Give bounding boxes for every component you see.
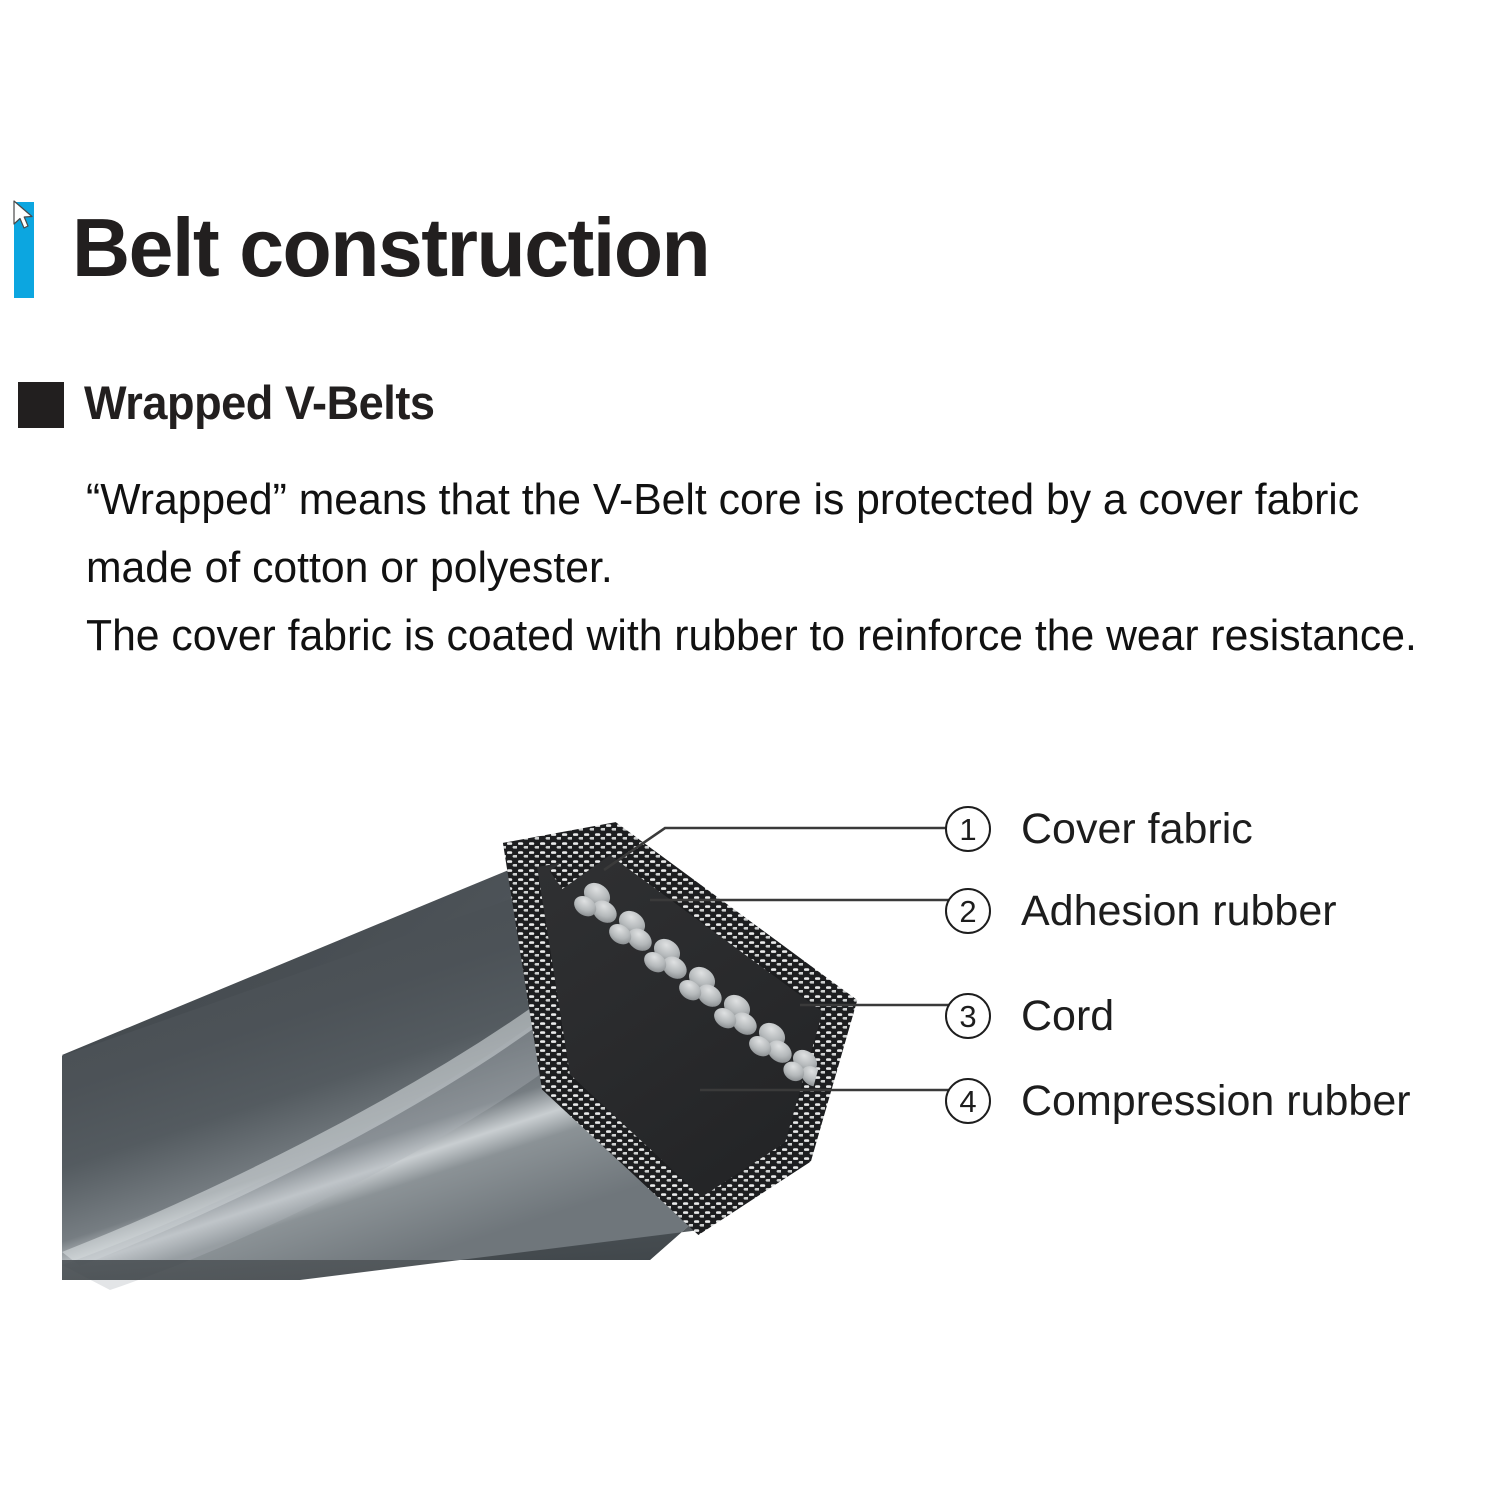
legend-label-3: Cord [1021, 991, 1114, 1041]
legend-label-2: Adhesion rubber [1021, 886, 1337, 936]
legend-item-cord: 3 Cord [945, 987, 1114, 1045]
body-paragraph-1: “Wrapped” means that the V-Belt core is … [86, 466, 1434, 602]
section-bullet-square [18, 382, 64, 428]
section-heading: Wrapped V-Belts [84, 372, 435, 434]
section-heading-row: Wrapped V-Belts [0, 376, 1000, 436]
page-title: Belt construction [72, 196, 709, 300]
page-header: Belt construction [0, 196, 1400, 306]
legend-item-cover-fabric: 1 Cover fabric [945, 800, 1253, 858]
legend: 1 Cover fabric 2 Adhesion rubber 3 Cord … [945, 760, 1500, 1160]
legend-marker-3-icon: 3 [945, 993, 991, 1039]
body-copy: “Wrapped” means that the V-Belt core is … [86, 466, 1476, 670]
legend-item-compression-rubber: 4 Compression rubber [945, 1072, 1411, 1130]
legend-item-adhesion-rubber: 2 Adhesion rubber [945, 882, 1337, 940]
title-accent-bar [14, 202, 34, 298]
legend-marker-2-icon: 2 [945, 888, 991, 934]
legend-marker-4-icon: 4 [945, 1078, 991, 1124]
legend-label-4: Compression rubber [1021, 1076, 1411, 1126]
body-paragraph-2: The cover fabric is coated with rubber t… [86, 602, 1434, 670]
legend-marker-1-icon: 1 [945, 806, 991, 852]
legend-label-1: Cover fabric [1021, 804, 1253, 854]
